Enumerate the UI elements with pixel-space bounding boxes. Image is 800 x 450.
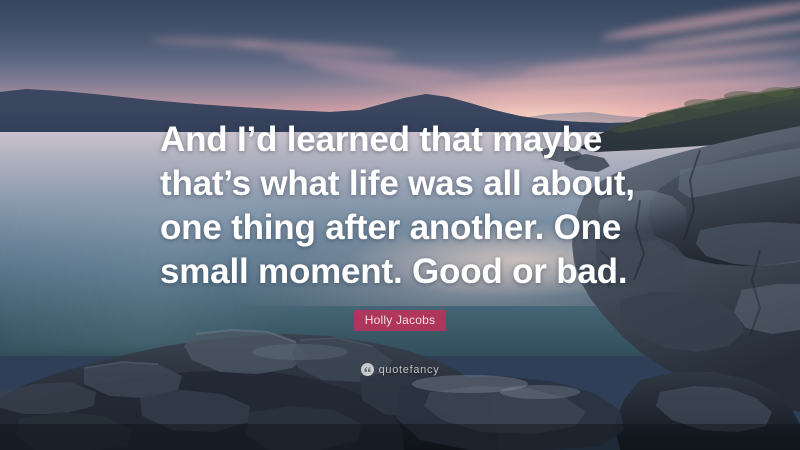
author-row: Holly Jacobs <box>0 310 800 331</box>
quote-mark-icon <box>361 363 374 376</box>
quote-text: And I’d learned that maybe that’s what l… <box>160 118 680 294</box>
author-badge: Holly Jacobs <box>354 310 446 331</box>
watermark-label: quotefancy <box>379 364 440 376</box>
watermark: quotefancy <box>0 363 800 376</box>
quote-poster: And I’d learned that maybe that’s what l… <box>0 0 800 450</box>
